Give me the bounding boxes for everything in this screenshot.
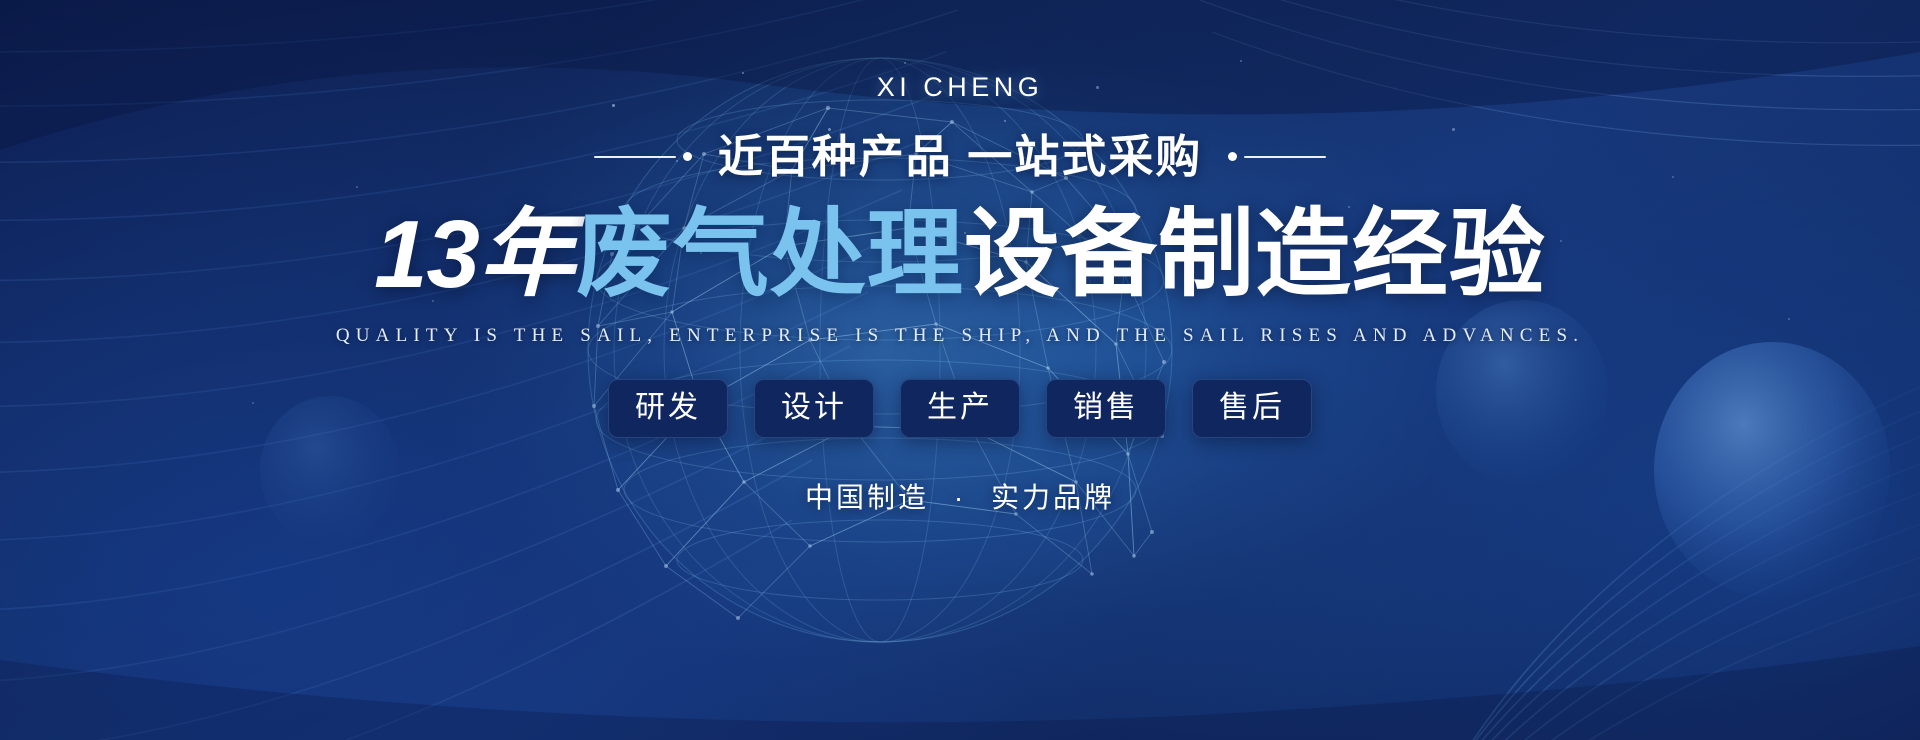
footer-separator-icon: · bbox=[940, 482, 980, 513]
banner-content: XI CHENG 近百种产品 一站式采购 13年废气处理设备制造经验 QUALI… bbox=[0, 0, 1920, 740]
service-tag[interactable]: 设计 bbox=[754, 379, 874, 438]
rule-line bbox=[1244, 156, 1326, 158]
headline-years: 13年 bbox=[374, 201, 576, 308]
english-tagline: QUALITY IS THE SAIL, ENTERPRISE IS THE S… bbox=[336, 325, 1584, 347]
headline-tail: 设备制造经验 bbox=[964, 201, 1546, 308]
brand-name-en: XI CHENG bbox=[877, 74, 1044, 101]
footer-slogan-right: 实力品牌 bbox=[991, 482, 1115, 513]
subtitle-row: 近百种产品 一站式采购 bbox=[594, 134, 1327, 179]
left-rule-decoration bbox=[594, 152, 692, 161]
headline: 13年废气处理设备制造经验 bbox=[374, 201, 1546, 309]
footer-slogan-left: 中国制造 bbox=[805, 482, 929, 513]
service-tag[interactable]: 售后 bbox=[1192, 379, 1312, 438]
service-tag[interactable]: 生产 bbox=[900, 379, 1020, 438]
rule-line bbox=[594, 156, 676, 158]
rule-dot-icon bbox=[683, 152, 692, 161]
service-tag[interactable]: 研发 bbox=[608, 379, 728, 438]
service-tag[interactable]: 销售 bbox=[1046, 379, 1166, 438]
hero-banner: XI CHENG 近百种产品 一站式采购 13年废气处理设备制造经验 QUALI… bbox=[0, 0, 1920, 740]
subtitle-text: 近百种产品 一站式采购 bbox=[718, 134, 1203, 179]
headline-accent: 废气处理 bbox=[576, 201, 964, 308]
service-tag-list: 研发 设计 生产 销售 售后 bbox=[608, 379, 1312, 438]
footer-slogan: 中国制造 · 实力品牌 bbox=[805, 476, 1115, 516]
right-rule-decoration bbox=[1228, 152, 1326, 161]
rule-dot-icon bbox=[1228, 152, 1237, 161]
